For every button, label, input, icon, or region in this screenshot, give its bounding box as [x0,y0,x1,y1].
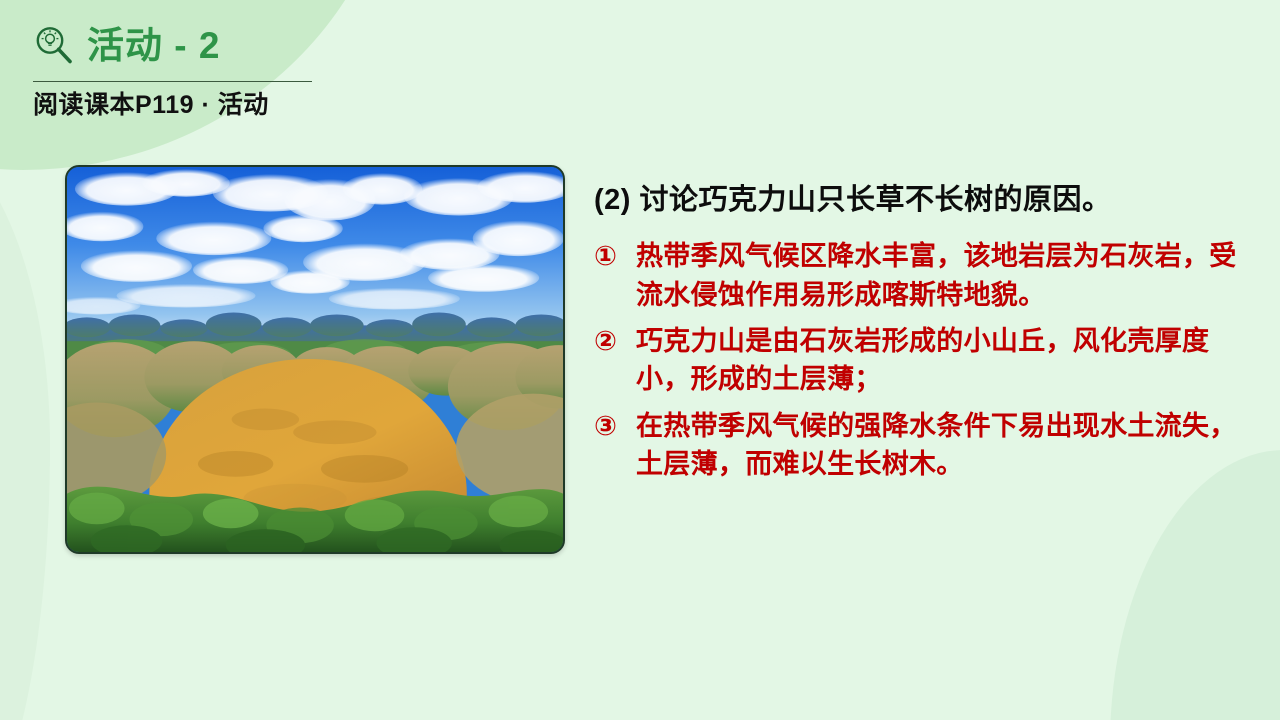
answer-text-2: 巧克力山是由石灰岩形成的小山丘，风化壳厚度小，形成的土层薄； [636,322,1254,399]
answer-marker-2: ② [594,322,636,360]
magnifier-lightbulb-icon [33,24,75,66]
answer-item-1: ① 热带季风气候区降水丰富，该地岩层为石灰岩，受流水侵蚀作用易形成喀斯特地貌。 [594,237,1254,314]
answer-text-3: 在热带季风气候的强降水条件下易出现水土流失，土层薄，而难以生长树木。 [636,407,1254,484]
answer-text-1: 热带季风气候区降水丰富，该地岩层为石灰岩，受流水侵蚀作用易形成喀斯特地貌。 [636,237,1254,314]
answer-item-2: ② 巧克力山是由石灰岩形成的小山丘，风化壳厚度小，形成的土层薄； [594,322,1254,399]
header-divider [33,81,312,82]
chocolate-hills-photo [65,165,565,554]
decor-band-left [0,130,50,720]
slide-root: 活动 - 2 阅读课本P119 · 活动 [0,0,1280,720]
question-heading: (2) 讨论巧克力山只长草不长树的原因。 [594,182,1254,218]
answer-list: ① 热带季风气候区降水丰富，该地岩层为石灰岩，受流水侵蚀作用易形成喀斯特地貌。 … [594,237,1254,483]
header-title-row: 活动 - 2 [33,18,333,72]
answer-marker-3: ③ [594,407,636,445]
header-subtitle: 阅读课本P119 · 活动 [33,91,333,120]
header-block: 活动 - 2 阅读课本P119 · 活动 [33,18,333,120]
page-title: 活动 - 2 [87,27,220,64]
answer-marker-1: ① [594,237,636,275]
content-column: (2) 讨论巧克力山只长草不长树的原因。 ① 热带季风气候区降水丰富，该地岩层为… [594,182,1254,491]
answer-item-3: ③ 在热带季风气候的强降水条件下易出现水土流失，土层薄，而难以生长树木。 [594,407,1254,484]
